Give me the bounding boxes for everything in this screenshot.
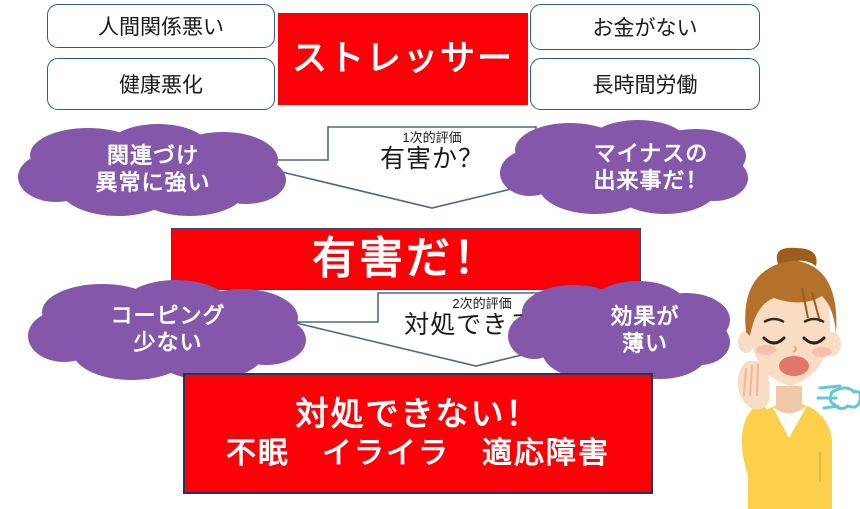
sigh-icon [818,386,860,409]
cloud-shape [500,120,748,214]
cloud-association-strong: 関連づけ 異常に強い [18,122,288,218]
sighing-woman-illustration [716,246,860,509]
stressor-banner: ストレッサー [278,13,528,105]
cloud-negative-event: マイナスの 出来事だ！ [500,118,750,218]
stressor-source-label: 長時間労働 [593,69,698,99]
stressor-source-relations: 人間関係悪い [47,4,275,48]
cloud-few-coping: コーピング 少ない [28,278,308,382]
cloud-shape [28,280,306,380]
blush-left [756,345,776,355]
mouth [779,356,809,376]
stressor-source-overtime: 長時間労働 [530,58,760,110]
outcome-banner: 対処できない！ 不眠 イライラ 適応障害 [183,373,653,494]
stress-model-diagram: 人間関係悪い 健康悪化 お金がない 長時間労働 ストレッサー 1次的評価 有害か… [0,0,860,509]
stressor-banner-label: ストレッサー [292,40,514,78]
stressor-source-label: 健康悪化 [119,69,203,99]
primary-verdict-label: 有害だ！ [312,235,500,283]
cloud-shape [508,281,730,380]
stressor-source-health: 健康悪化 [47,58,275,110]
stressor-source-money: お金がない [530,4,760,50]
outcome-headline: 対処できない！ [296,396,541,432]
outcome-symptoms: 不眠 イライラ 適応障害 [226,438,610,470]
stressor-source-label: お金がない [593,12,698,42]
cloud-weak-effect: 効果が 薄い [508,278,730,384]
cloud-shape [18,124,286,216]
stressor-source-label: 人間関係悪い [98,11,224,41]
blush-right [812,347,832,357]
